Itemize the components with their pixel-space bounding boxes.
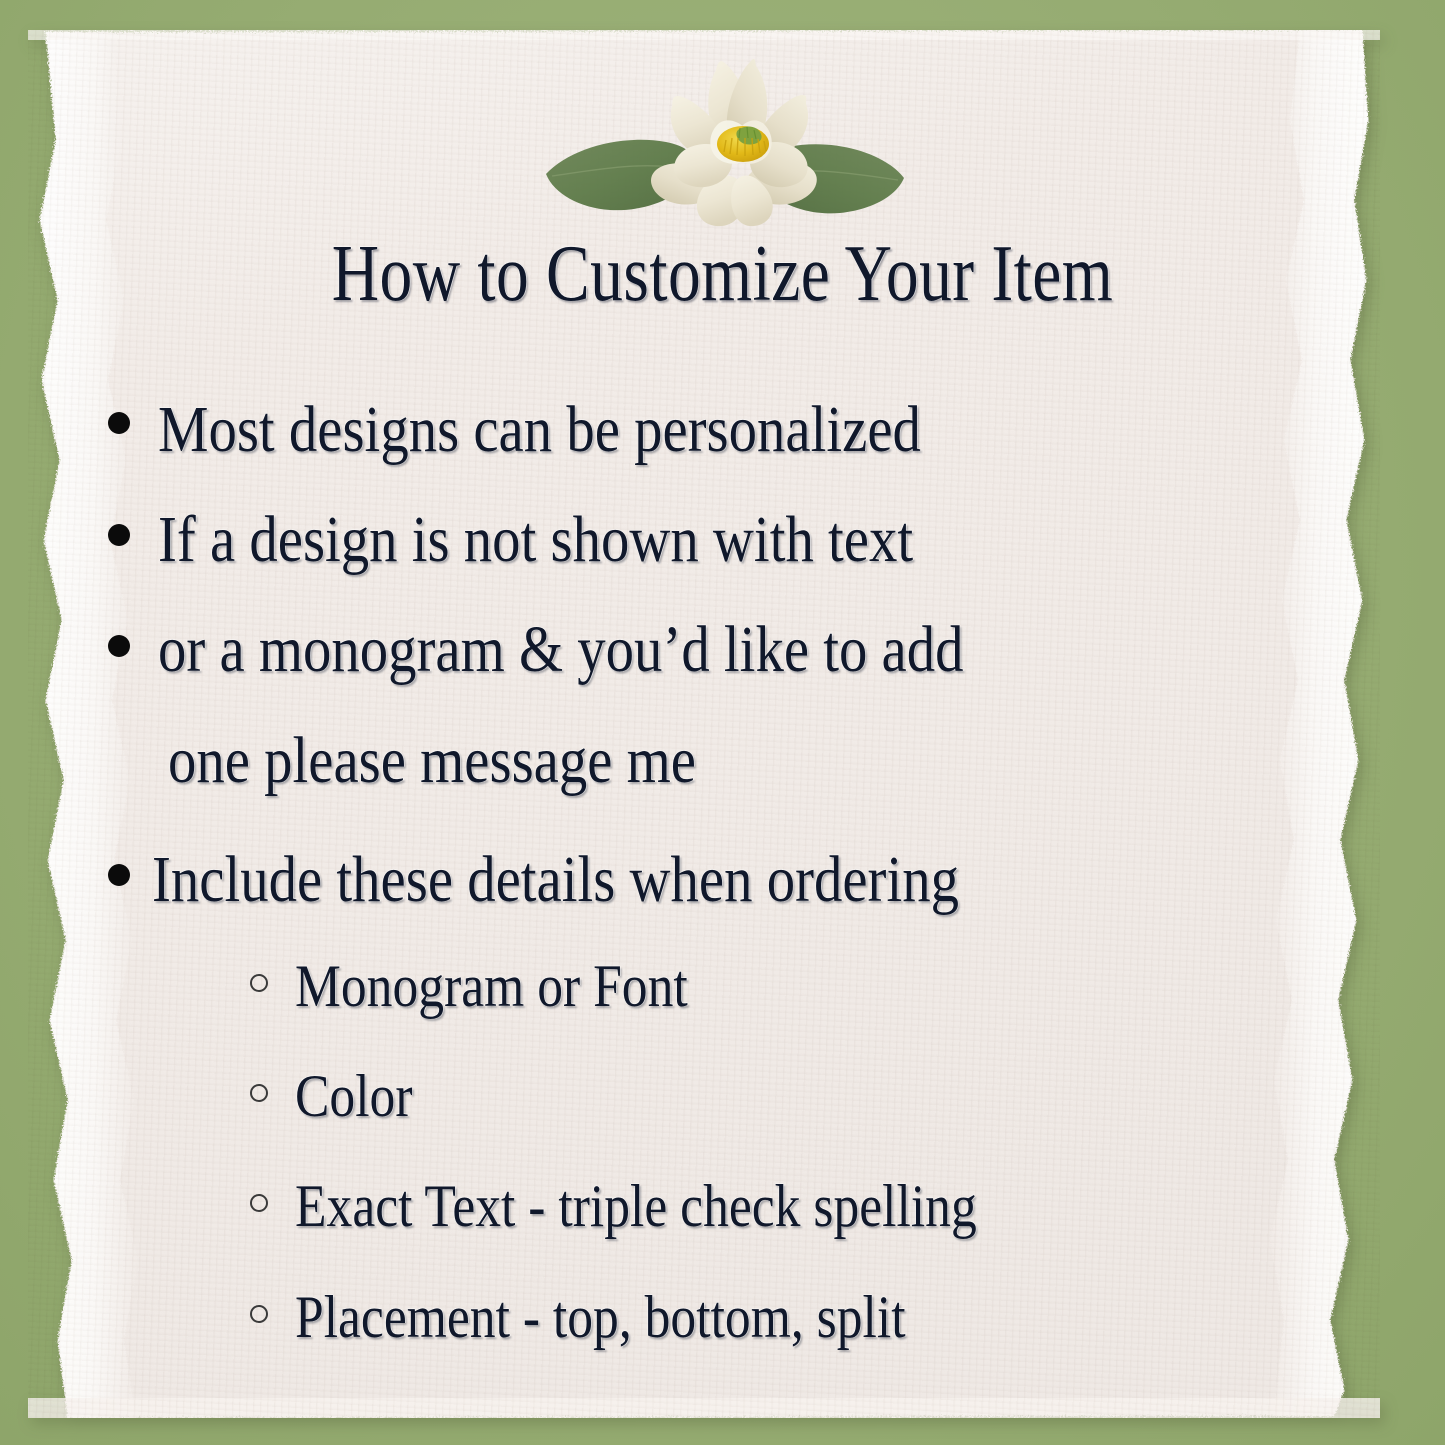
bullet-filled-icon <box>108 864 130 886</box>
list-item-label: If a design is not shown with text <box>158 507 913 573</box>
bullet-filled-icon <box>108 412 130 434</box>
sub-list-item-label: Monogram or Font <box>295 956 688 1016</box>
bullet-hollow-icon <box>250 1305 268 1323</box>
list-item: Include these details when ordering <box>0 842 1445 918</box>
sub-list-item: Placement - top, bottom, split <box>0 1283 1445 1352</box>
petals-upper <box>671 59 808 187</box>
sub-list-item-label: Exact Text - triple check spelling <box>295 1176 977 1236</box>
list-item: or a monogram & you’d like to add <box>0 612 1445 688</box>
listing-graphic: How to Customize Your Item Most designs … <box>0 0 1445 1445</box>
magnolia-flower-icon <box>540 52 910 227</box>
bullet-filled-icon <box>108 635 130 657</box>
sub-list-item: Exact Text - triple check spelling <box>0 1172 1445 1241</box>
list-item-label: or a monogram & you’d like to add <box>158 617 964 683</box>
list-item-label: Most designs can be personalized <box>158 397 921 463</box>
sub-list-item: Monogram or Font <box>0 952 1445 1021</box>
bullet-filled-icon <box>108 524 130 546</box>
page-title: How to Customize Your Item <box>130 234 1315 314</box>
list-item: Most designs can be personalized <box>0 392 1445 468</box>
sub-list-item: Color <box>0 1062 1445 1131</box>
list-item-label: one please message me <box>168 728 696 794</box>
bullet-hollow-icon <box>250 1194 268 1212</box>
sub-list-item-label: Color <box>295 1066 413 1126</box>
list-item: If a design is not shown with text <box>0 502 1445 578</box>
flower-center <box>717 126 769 162</box>
list-item-label: Include these details when ordering <box>152 847 959 913</box>
sub-list-item-label: Placement - top, bottom, split <box>295 1287 906 1347</box>
list-item-continuation: one please message me <box>0 723 1445 799</box>
bullet-hollow-icon <box>250 1084 268 1102</box>
bullet-hollow-icon <box>250 974 268 992</box>
